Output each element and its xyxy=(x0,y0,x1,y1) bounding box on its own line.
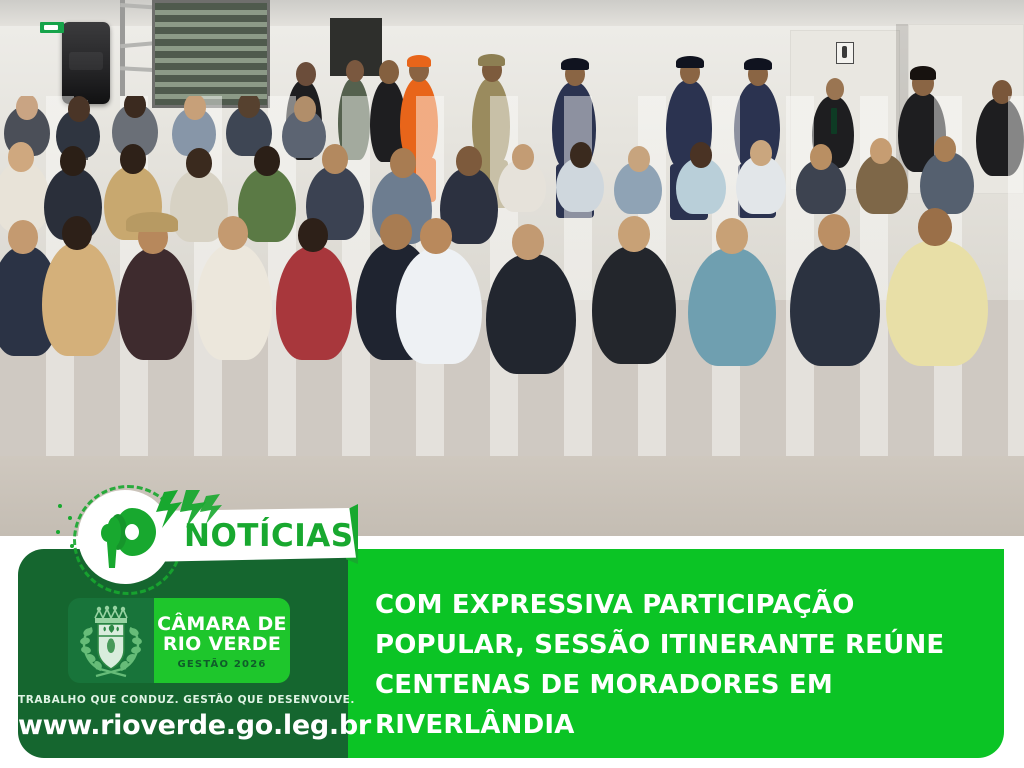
officer-cap-khaki xyxy=(478,54,505,66)
head xyxy=(716,218,748,254)
logo-subtitle: GESTÃO 2026 xyxy=(177,659,266,670)
head xyxy=(390,148,416,178)
head xyxy=(8,142,34,172)
head xyxy=(750,140,772,166)
head xyxy=(62,216,92,250)
police-cap-3 xyxy=(744,58,772,70)
exit-sign-icon xyxy=(40,22,64,33)
head xyxy=(8,220,38,254)
restroom-sign-icon xyxy=(836,42,854,64)
tagline: TRABALHO QUE CONDUZ. GESTÃO QUE DESENVOL… xyxy=(18,694,348,706)
head xyxy=(296,62,316,86)
headline-line: CENTENAS DE MORADORES EM xyxy=(375,665,975,705)
head xyxy=(294,96,316,122)
audience-member xyxy=(276,246,352,360)
headline-line: POPULAR, SESSÃO ITINERANTE REÚNE xyxy=(375,625,975,665)
seated-audience xyxy=(0,96,1024,536)
head xyxy=(690,142,712,168)
head xyxy=(618,216,650,252)
head xyxy=(934,136,956,162)
audience-member xyxy=(196,244,272,360)
head xyxy=(918,208,952,246)
head xyxy=(322,144,348,174)
head xyxy=(420,218,452,254)
head xyxy=(186,148,212,178)
head xyxy=(456,146,482,176)
headline: COM EXPRESSIVA PARTICIPAÇÃO POPULAR, SES… xyxy=(375,585,975,745)
head xyxy=(870,138,892,164)
badge-label: NOTÍCIAS xyxy=(184,518,354,554)
head xyxy=(512,224,544,260)
louver-window xyxy=(152,0,270,108)
head xyxy=(346,60,364,82)
head xyxy=(298,218,328,252)
firefighter-beret xyxy=(407,55,431,67)
head xyxy=(68,96,90,122)
event-photo xyxy=(0,0,1024,536)
head xyxy=(380,214,412,250)
logo-text: CÂMARA DE RIO VERDE GESTÃO 2026 xyxy=(154,598,290,683)
head xyxy=(16,96,38,120)
head xyxy=(379,60,399,84)
hair xyxy=(910,66,936,80)
head xyxy=(60,146,86,176)
head xyxy=(628,146,650,172)
megaphone-icon xyxy=(88,502,164,574)
head xyxy=(184,96,206,120)
head xyxy=(818,214,850,250)
audience-member xyxy=(396,248,482,364)
head xyxy=(570,142,592,168)
pa-speaker xyxy=(62,22,110,104)
audience-member xyxy=(118,248,192,360)
audience-member xyxy=(790,244,880,366)
head xyxy=(512,144,534,170)
audience-member-txc xyxy=(886,240,988,366)
logo-title-line1: CÂMARA DE xyxy=(157,614,287,634)
head xyxy=(218,216,248,250)
news-card: NOTÍCIAS xyxy=(0,0,1024,768)
logo-title-line2: RIO VERDE xyxy=(163,634,281,654)
head xyxy=(810,144,832,170)
audience-member xyxy=(592,246,676,364)
head xyxy=(254,146,280,176)
camara-logo: CÂMARA DE RIO VERDE GESTÃO 2026 xyxy=(68,598,290,683)
audience-member xyxy=(486,254,576,374)
police-cap-2 xyxy=(676,56,704,68)
headline-line: RIVERLÂNDIA xyxy=(375,705,975,745)
coat-of-arms-icon xyxy=(68,598,154,683)
head xyxy=(120,144,146,174)
police-cap-1 xyxy=(561,58,589,70)
audience-member xyxy=(42,242,116,356)
headline-line: COM EXPRESSIVA PARTICIPAÇÃO xyxy=(375,585,975,625)
website-url[interactable]: www.rioverde.go.leg.br xyxy=(18,710,348,741)
crest-container xyxy=(68,598,154,683)
noticias-badge: NOTÍCIAS xyxy=(72,488,372,584)
audience-member xyxy=(688,248,776,366)
straw-hat xyxy=(126,212,178,232)
